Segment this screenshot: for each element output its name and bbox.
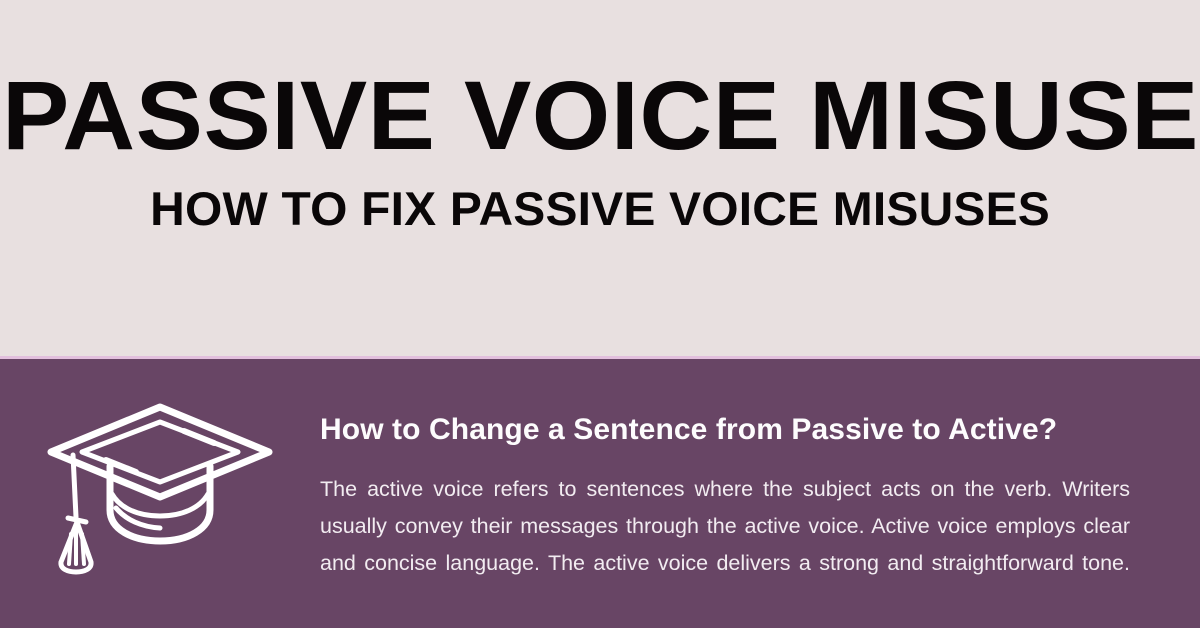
hero-text-stack: PASSIVE VOICE MISUSE HOW TO FIX PASSIVE … (0, 0, 1200, 300)
page-title: PASSIVE VOICE MISUSE (2, 68, 1199, 163)
icon-column (0, 359, 320, 628)
infographic-root: PASSIVE VOICE MISUSE HOW TO FIX PASSIVE … (0, 0, 1200, 628)
content-panel-row: How to Change a Sentence from Passive to… (0, 359, 1200, 628)
page-subtitle: HOW TO FIX PASSIVE VOICE MISUSES (150, 185, 1050, 232)
section-heading: How to Change a Sentence from Passive to… (320, 413, 1130, 447)
text-column: How to Change a Sentence from Passive to… (320, 359, 1200, 619)
hero-banner: PASSIVE VOICE MISUSE HOW TO FIX PASSIVE … (0, 0, 1200, 358)
graduation-cap-icon (42, 398, 278, 576)
section-body-text: The active voice refers to sentences whe… (320, 471, 1130, 619)
content-panel: How to Change a Sentence from Passive to… (0, 359, 1200, 628)
